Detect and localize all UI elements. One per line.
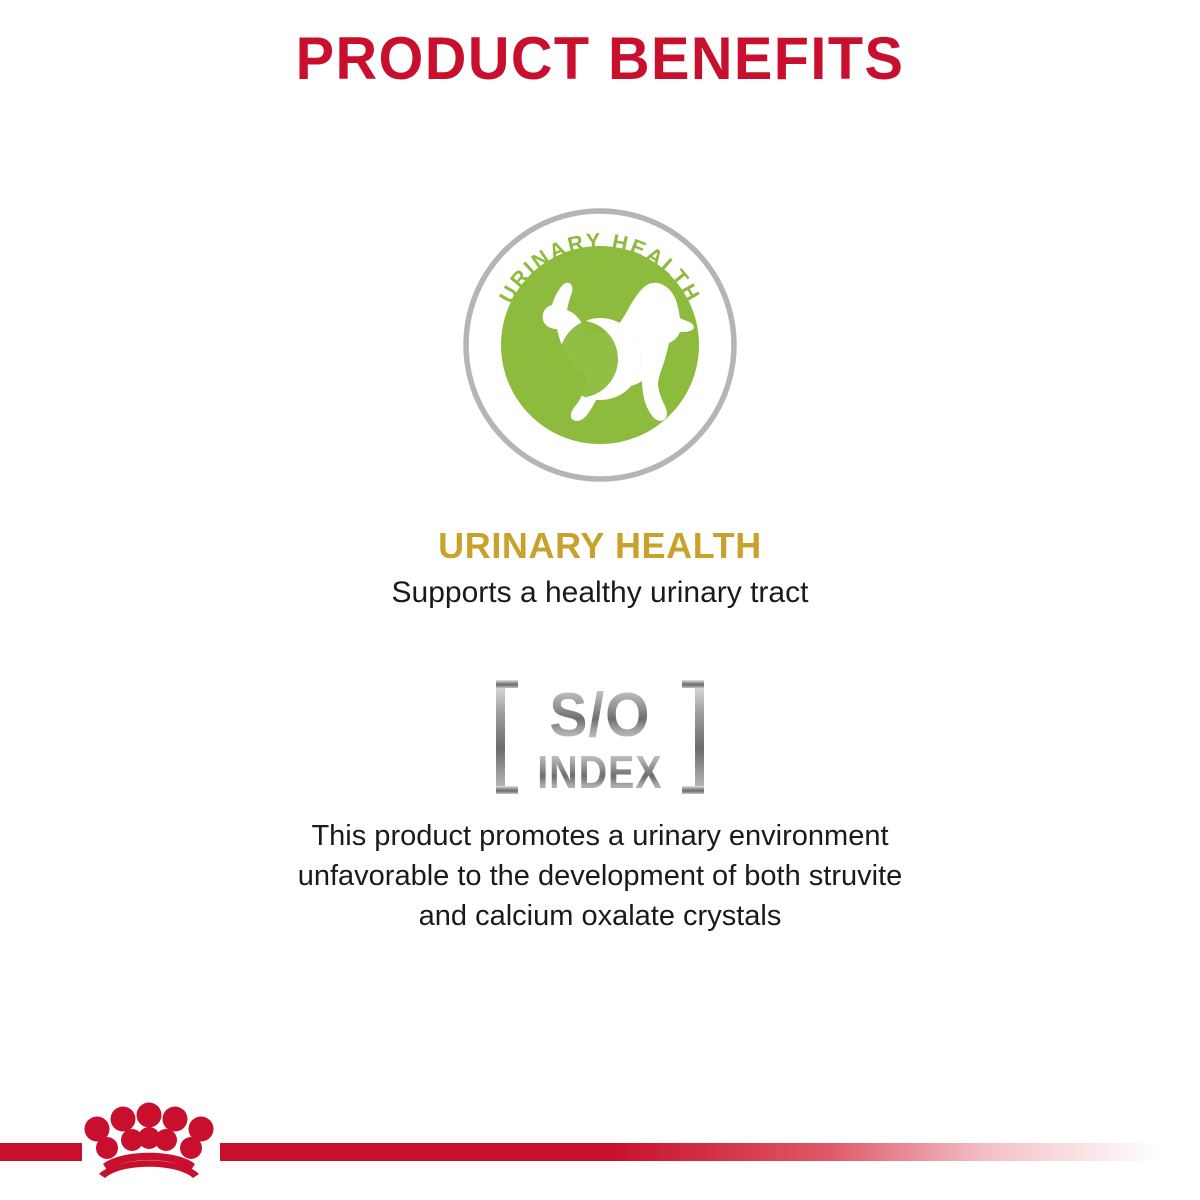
- footer-bar-right: [220, 1143, 1200, 1161]
- royal-canin-crown-logo: [73, 1102, 225, 1178]
- so-index-bottom-text: INDEX: [537, 747, 662, 798]
- so-index-right-bracket: [682, 680, 704, 794]
- product-benefits-page: PRODUCT BENEFITS URINARY HEALTH: [0, 0, 1200, 1200]
- so-index-logo: S/O INDEX: [490, 676, 710, 798]
- so-index-top-text: S/O: [549, 680, 650, 750]
- benefit-subtitle: Supports a healthy urinary tract: [0, 573, 1200, 612]
- footer: [0, 1080, 1200, 1200]
- so-index-left-bracket: [496, 680, 518, 794]
- page-title: PRODUCT BENEFITS: [24, 26, 1176, 92]
- urinary-health-badge: URINARY HEALTH: [462, 207, 738, 483]
- so-index-description: This product promotes a urinary environm…: [200, 816, 1000, 936]
- benefit-heading: URINARY HEALTH: [0, 524, 1200, 567]
- footer-bar-left: [0, 1143, 82, 1161]
